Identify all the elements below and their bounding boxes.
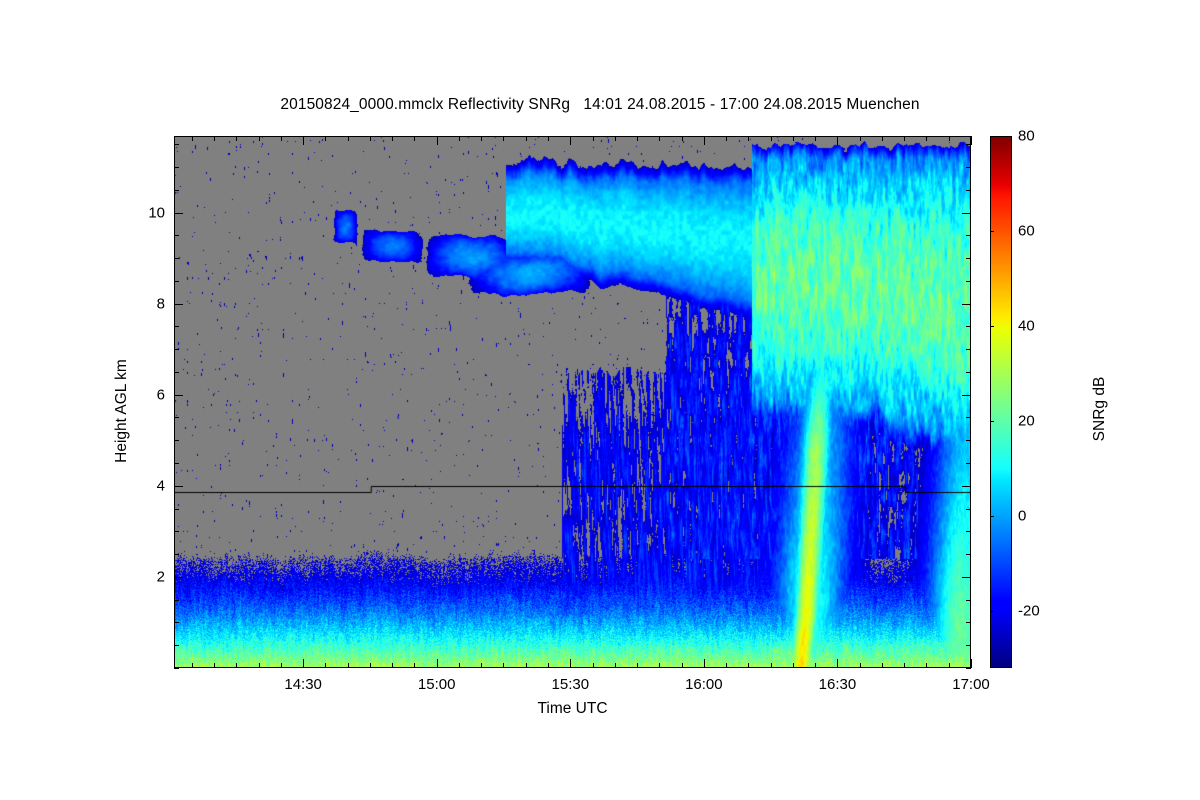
y-minor-tick (174, 349, 179, 350)
y-minor-tick (174, 417, 179, 418)
x-minor-tick-top (370, 136, 371, 141)
x-minor-tick (459, 663, 460, 668)
y-major-tick-right (962, 213, 971, 214)
y-major-tick (174, 577, 183, 578)
y-minor-tick-right (966, 554, 971, 555)
y-minor-tick-right (966, 440, 971, 441)
x-major-tick (837, 659, 838, 668)
x-minor-tick-top (593, 136, 594, 141)
y-minor-tick-right (966, 622, 971, 623)
x-minor-tick-top (481, 136, 482, 141)
y-major-tick (174, 304, 183, 305)
x-minor-tick-top (503, 136, 504, 141)
y-tick-label: 8 (157, 295, 165, 312)
x-minor-tick (236, 663, 237, 668)
x-major-tick-top (971, 136, 972, 145)
x-minor-tick-top (259, 136, 260, 141)
x-minor-tick-top (615, 136, 616, 141)
y-minor-tick-right (966, 668, 971, 669)
x-minor-tick-top (771, 136, 772, 141)
y-minor-tick-right (966, 167, 971, 168)
y-minor-tick (174, 600, 179, 601)
y-minor-tick-right (966, 235, 971, 236)
x-minor-tick-top (325, 136, 326, 141)
x-minor-tick (659, 663, 660, 668)
x-minor-tick-top (904, 136, 905, 141)
y-major-tick (174, 395, 183, 396)
x-tick-label: 16:30 (819, 676, 857, 693)
figure-title: 20150824_0000.mmclx Reflectivity SNRg 14… (0, 96, 1200, 114)
reflectivity-heatmap (174, 136, 971, 668)
x-minor-tick (615, 663, 616, 668)
x-minor-tick (548, 663, 549, 668)
x-major-tick-top (704, 136, 705, 145)
x-minor-tick-top (659, 136, 660, 141)
colorbar-tick-label: 0 (1018, 508, 1026, 525)
x-minor-tick (793, 663, 794, 668)
colorbar-tick (990, 326, 994, 327)
x-minor-tick-top (793, 136, 794, 141)
x-major-tick-top (837, 136, 838, 145)
x-minor-tick (637, 663, 638, 668)
x-tick-label: 16:00 (685, 676, 723, 693)
x-minor-tick-top (882, 136, 883, 141)
x-minor-tick-top (860, 136, 861, 141)
x-minor-tick-top (526, 136, 527, 141)
colorbar-tick (990, 611, 994, 612)
x-minor-tick (414, 663, 415, 668)
y-minor-tick-right (966, 645, 971, 646)
x-minor-tick (481, 663, 482, 668)
x-minor-tick (348, 663, 349, 668)
x-minor-tick-top (281, 136, 282, 141)
x-minor-tick-top (949, 136, 950, 141)
y-minor-tick (174, 645, 179, 646)
x-minor-tick (370, 663, 371, 668)
y-minor-tick-right (966, 372, 971, 373)
y-minor-tick (174, 281, 179, 282)
x-minor-tick (192, 663, 193, 668)
y-major-tick (174, 213, 183, 214)
x-minor-tick (392, 663, 393, 668)
colorbar-gradient (990, 136, 1012, 668)
x-minor-tick (726, 663, 727, 668)
y-minor-tick (174, 144, 179, 145)
y-minor-tick-right (966, 326, 971, 327)
colorbar-tick-label: -20 (1018, 603, 1040, 620)
x-major-tick (437, 659, 438, 668)
x-major-tick-top (303, 136, 304, 145)
colorbar-tick (990, 516, 994, 517)
y-major-tick-right (962, 577, 971, 578)
colorbar-tick (990, 231, 994, 232)
y-major-tick-right (962, 304, 971, 305)
x-tick-label: 14:30 (284, 676, 322, 693)
y-minor-tick (174, 167, 179, 168)
y-minor-tick (174, 190, 179, 191)
x-minor-tick (860, 663, 861, 668)
y-minor-tick-right (966, 349, 971, 350)
y-minor-tick-right (966, 531, 971, 532)
y-tick-label: 2 (157, 568, 165, 585)
x-minor-tick-top (726, 136, 727, 141)
colorbar-title: SNRg dB (1091, 309, 1109, 509)
x-minor-tick-top (548, 136, 549, 141)
y-minor-tick (174, 668, 179, 669)
x-minor-tick-top (192, 136, 193, 141)
x-minor-tick-top (748, 136, 749, 141)
y-minor-tick-right (966, 509, 971, 510)
x-minor-tick (815, 663, 816, 668)
y-minor-tick (174, 463, 179, 464)
y-minor-tick-right (966, 281, 971, 282)
y-minor-tick-right (966, 190, 971, 191)
x-major-tick-top (570, 136, 571, 145)
x-tick-label: 15:00 (418, 676, 456, 693)
y-minor-tick (174, 372, 179, 373)
x-minor-tick (882, 663, 883, 668)
y-minor-tick (174, 622, 179, 623)
x-minor-tick (526, 663, 527, 668)
y-minor-tick-right (966, 463, 971, 464)
x-minor-tick (325, 663, 326, 668)
colorbar-tick-label: 80 (1018, 128, 1035, 145)
x-major-tick (971, 659, 972, 668)
y-tick-label: 10 (148, 204, 165, 221)
x-minor-tick (748, 663, 749, 668)
y-major-tick-right (962, 395, 971, 396)
colorbar-tick-label: 20 (1018, 413, 1035, 430)
x-minor-tick (771, 663, 772, 668)
y-minor-tick (174, 531, 179, 532)
x-minor-tick (281, 663, 282, 668)
x-minor-tick (926, 663, 927, 668)
y-minor-tick-right (966, 600, 971, 601)
x-minor-tick (682, 663, 683, 668)
y-minor-tick (174, 235, 179, 236)
x-tick-label: 17:00 (952, 676, 990, 693)
x-major-tick (704, 659, 705, 668)
x-minor-tick-top (459, 136, 460, 141)
x-minor-tick-top (815, 136, 816, 141)
x-minor-tick-top (236, 136, 237, 141)
y-minor-tick-right (966, 144, 971, 145)
colorbar-tick (990, 421, 994, 422)
x-minor-tick-top (392, 136, 393, 141)
y-major-tick-right (962, 486, 971, 487)
x-minor-tick-top (682, 136, 683, 141)
x-minor-tick-top (214, 136, 215, 141)
x-minor-tick (904, 663, 905, 668)
x-major-tick-top (437, 136, 438, 145)
x-tick-label: 15:30 (552, 676, 590, 693)
x-minor-tick (503, 663, 504, 668)
y-minor-tick (174, 509, 179, 510)
x-minor-tick (214, 663, 215, 668)
colorbar-tick-label: 40 (1018, 318, 1035, 335)
x-major-tick (303, 659, 304, 668)
y-minor-tick (174, 326, 179, 327)
x-minor-tick (259, 663, 260, 668)
x-major-tick (570, 659, 571, 668)
colorbar-tick (990, 136, 994, 137)
x-minor-tick-top (637, 136, 638, 141)
y-tick-label: 4 (157, 477, 165, 494)
y-axis-title: Height AGL km (113, 281, 131, 541)
x-axis-title: Time UTC (174, 700, 971, 718)
x-minor-tick-top (348, 136, 349, 141)
x-minor-tick (593, 663, 594, 668)
x-minor-tick-top (414, 136, 415, 141)
y-minor-tick-right (966, 417, 971, 418)
y-minor-tick-right (966, 258, 971, 259)
y-minor-tick (174, 554, 179, 555)
colorbar-tick-label: 60 (1018, 223, 1035, 240)
x-minor-tick (949, 663, 950, 668)
x-minor-tick-top (926, 136, 927, 141)
y-tick-label: 6 (157, 386, 165, 403)
radar-figure: 20150824_0000.mmclx Reflectivity SNRg 14… (0, 0, 1200, 800)
y-major-tick (174, 486, 183, 487)
y-minor-tick (174, 440, 179, 441)
y-minor-tick (174, 258, 179, 259)
